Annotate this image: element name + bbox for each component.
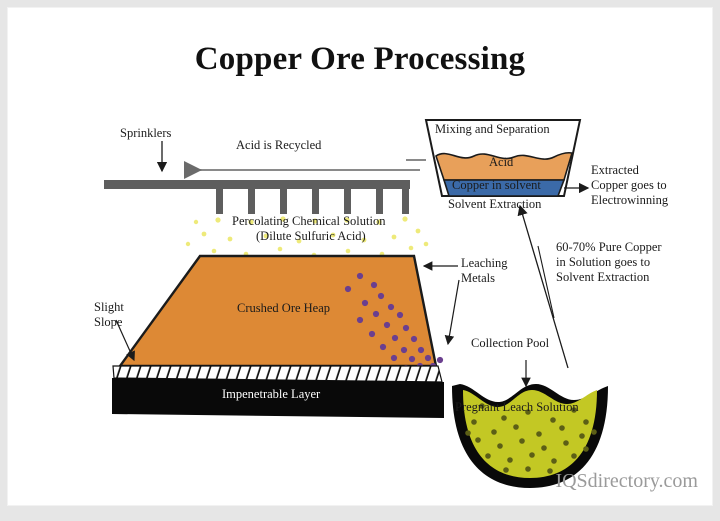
label-slight-slope-line2: Slope: [94, 315, 122, 330]
label-pure-copper-line1: 60-70% Pure Copper: [556, 240, 662, 255]
label-pure-copper-line2: in Solution goes to: [556, 255, 650, 270]
label-pure-copper-line3: Solvent Extraction: [556, 270, 649, 285]
label-acid-recycled: Acid is Recycled: [236, 138, 321, 153]
label-sprinklers: Sprinklers: [120, 126, 171, 141]
leaching-metals-down-arrow: [448, 280, 459, 344]
diagram-frame: Copper Ore Processing: [8, 8, 712, 505]
label-extracted-line3: Electrowinning: [591, 193, 668, 208]
label-pregnant-leach-solution: Pregnant Leach Solution: [455, 400, 579, 415]
label-impenetrable-layer: Impenetrable Layer: [222, 387, 320, 402]
label-leaching-line2: Metals: [461, 271, 495, 286]
label-acid: Acid: [489, 155, 513, 170]
label-percolating-line1: Percolating Chemical Solution: [232, 214, 385, 229]
sprinkler-main-pipe: [104, 180, 410, 189]
label-extracted-line1: Extracted: [591, 163, 639, 178]
label-slight-slope-line1: Slight: [94, 300, 124, 315]
label-copper-in-solvent: Copper in solvent: [452, 178, 541, 193]
label-crushed-ore-heap: Crushed Ore Heap: [237, 301, 330, 316]
label-solvent-extraction: Solvent Extraction: [448, 197, 541, 212]
pure-copper-leader-line: [538, 246, 554, 318]
label-leaching-line1: Leaching: [461, 256, 508, 271]
watermark: IQSdirectory.com: [8, 470, 698, 494]
label-mixing-and-separation: Mixing and Separation: [435, 122, 550, 137]
label-percolating-line2: (Dilute Sulfuric Acid): [256, 229, 366, 244]
sprinkler-nozzles: [216, 189, 409, 214]
label-collection-pool: Collection Pool: [471, 336, 549, 351]
label-extracted-line2: Copper goes to: [591, 178, 667, 193]
